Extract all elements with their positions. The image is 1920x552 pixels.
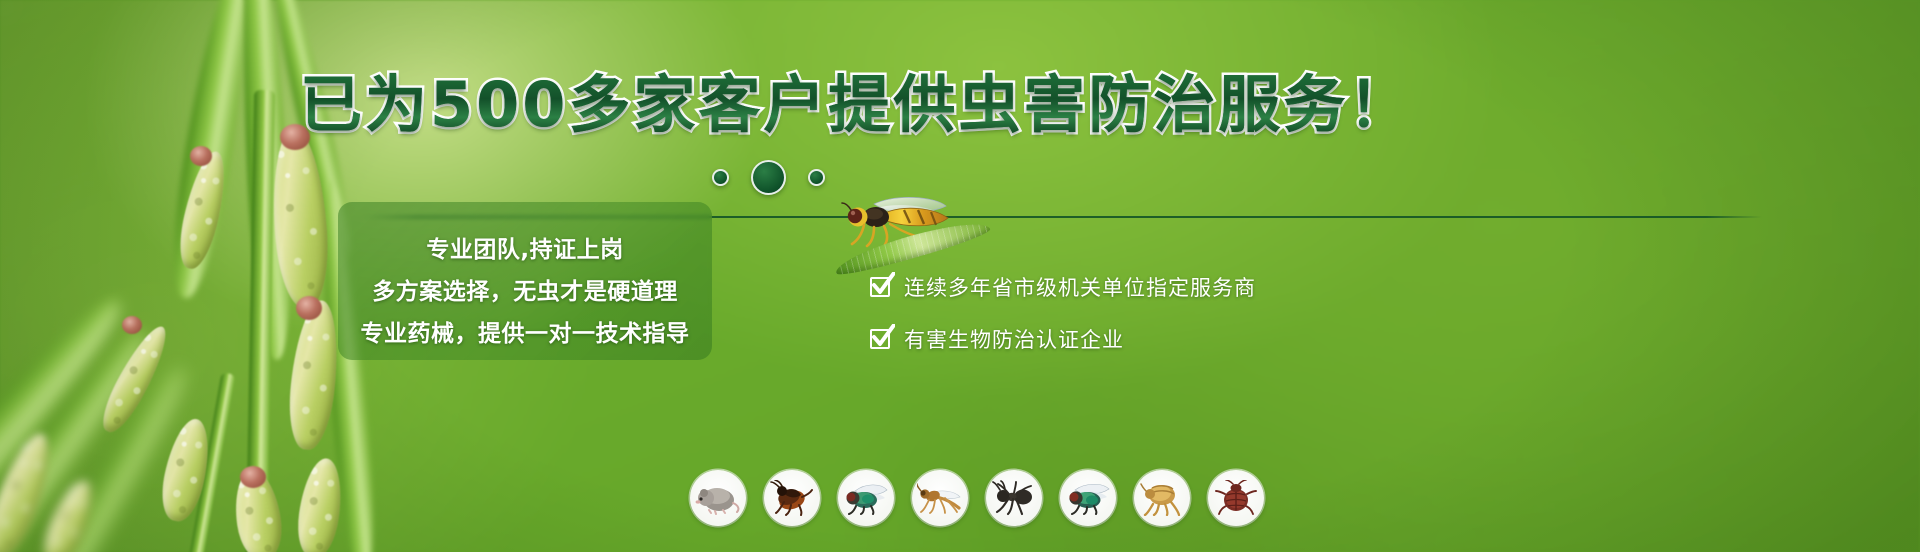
- slogan-panel: 专业团队,持证上岗 多方案选择，无虫才是硬道理 专业药械，提供一对一技术指导: [338, 202, 712, 360]
- slogan-line-3: 专业药械，提供一对一技术指导: [360, 314, 690, 348]
- hoverfly-photo: [830, 196, 970, 276]
- checklist-item-label: 连续多年省市级机关单位指定服务商: [904, 272, 1256, 302]
- rodent-icon[interactable]: [690, 470, 746, 526]
- checkbox-checked-icon: [868, 327, 892, 351]
- checklist-item: 有害生物防治认证企业: [868, 324, 1256, 354]
- dot-small-left-icon: [712, 169, 729, 186]
- decorative-dots: [712, 160, 825, 195]
- slogan-line-1: 专业团队,持证上岗: [360, 230, 690, 264]
- page-title: 已为500多家客户提供虫害防治服务！: [300, 74, 1413, 136]
- dot-large-center-icon: [751, 160, 786, 195]
- slogan-line-2: 多方案选择，无虫才是硬道理: [360, 272, 690, 306]
- bedbug-icon[interactable]: [1208, 470, 1264, 526]
- checklist-item-label: 有害生物防治认证企业: [904, 324, 1124, 354]
- flea-icon[interactable]: [1134, 470, 1190, 526]
- promo-banner: 已为500多家客户提供虫害防治服务！ 已为500多家客户提供虫害防治服务！ 专业…: [0, 0, 1920, 552]
- housefly-icon[interactable]: [1060, 470, 1116, 526]
- cockroach-icon[interactable]: [764, 470, 820, 526]
- checklist: 连续多年省市级机关单位指定服务商 有害生物防治认证企业: [868, 272, 1256, 354]
- dot-small-right-icon: [808, 169, 825, 186]
- blowfly-icon[interactable]: [838, 470, 894, 526]
- ant-icon[interactable]: [986, 470, 1042, 526]
- checklist-item: 连续多年省市级机关单位指定服务商: [868, 272, 1256, 302]
- checkbox-checked-icon: [868, 275, 892, 299]
- pest-icon-strip: [690, 470, 1264, 526]
- mosquito-icon[interactable]: [912, 470, 968, 526]
